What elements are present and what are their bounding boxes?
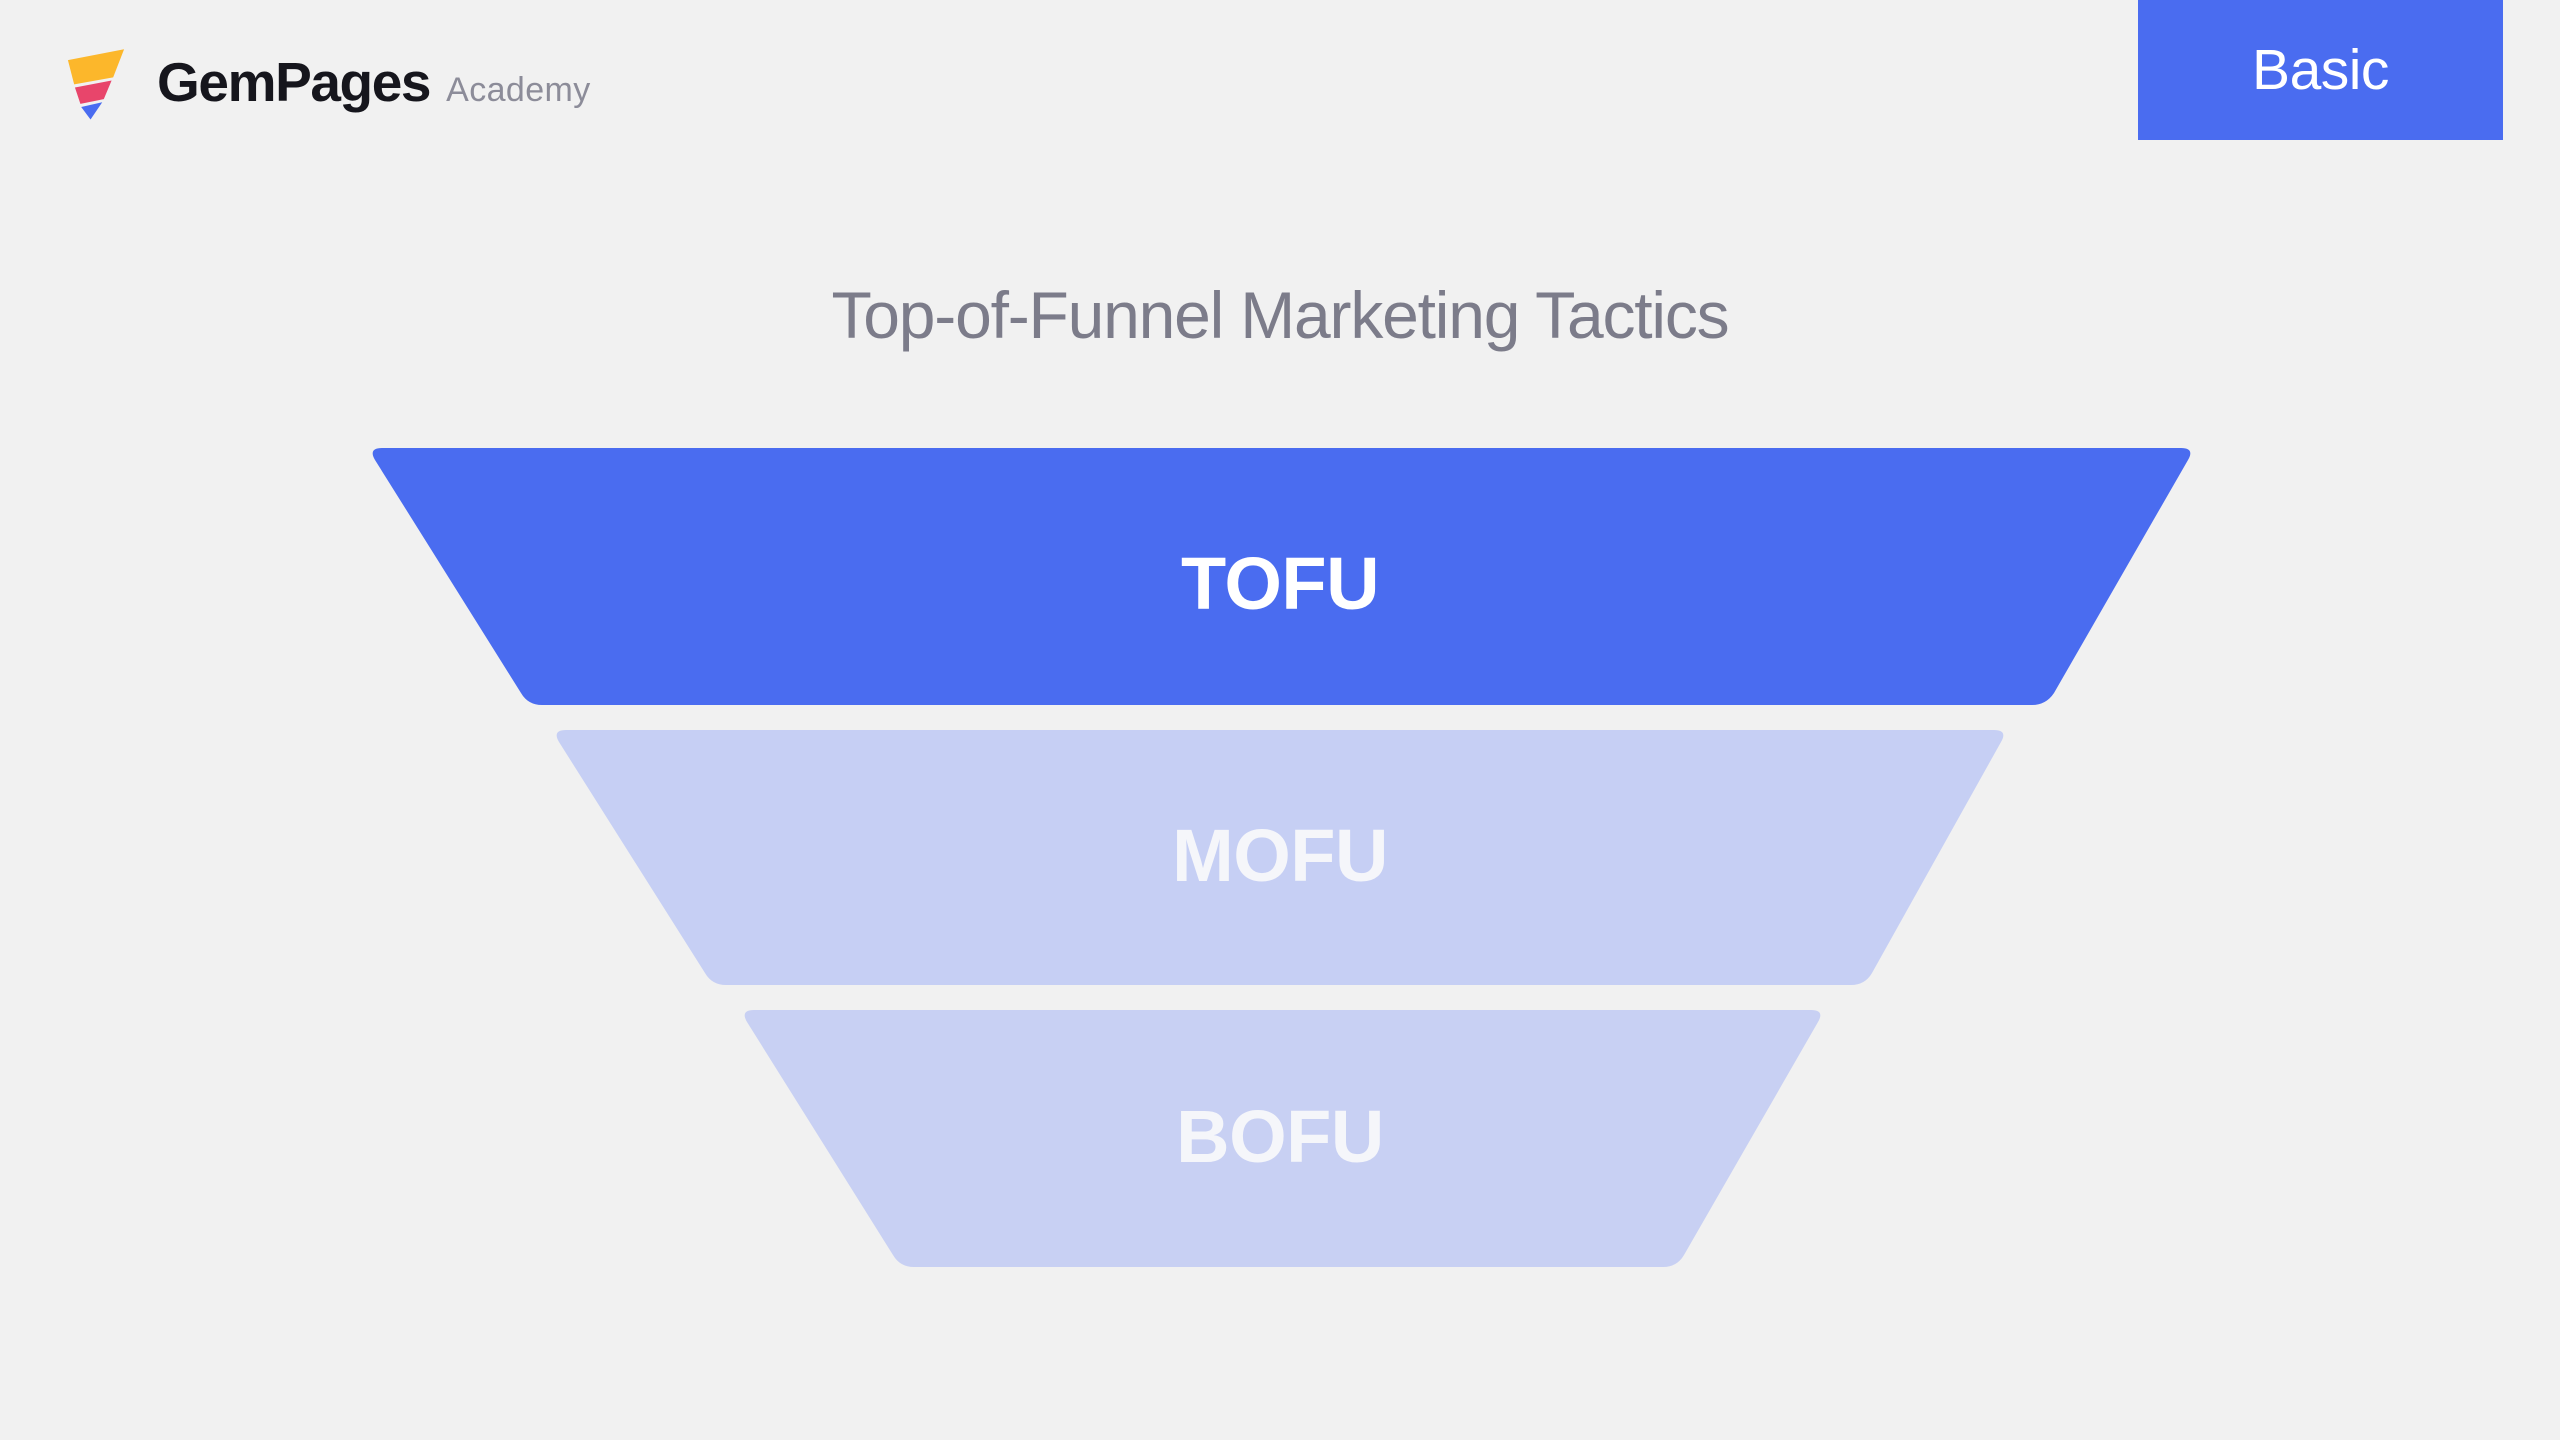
funnel-stage-label-mofu: MOFU bbox=[0, 819, 2560, 893]
plan-badge[interactable]: Basic bbox=[2138, 0, 2503, 140]
funnel-stage-label-tofu: TOFU bbox=[0, 547, 2560, 621]
page-title: Top-of-Funnel Marketing Tactics bbox=[0, 278, 2560, 354]
brand-name: GemPages bbox=[157, 55, 430, 110]
gempages-funnel-logo-icon bbox=[57, 43, 135, 121]
brand-subtitle: Academy bbox=[446, 73, 591, 107]
brand-logo-lockup[interactable]: GemPages Academy bbox=[57, 47, 591, 117]
funnel-shapes bbox=[0, 0, 2560, 1440]
plan-badge-label: Basic bbox=[2252, 42, 2389, 99]
funnel-stage-label-bofu: BOFU bbox=[0, 1100, 2560, 1174]
funnel-diagram bbox=[0, 0, 2560, 1440]
brand-wordmark: GemPages Academy bbox=[157, 55, 591, 110]
slide-canvas: GemPages Academy Basic Top-of-Funnel Mar… bbox=[0, 0, 2560, 1440]
